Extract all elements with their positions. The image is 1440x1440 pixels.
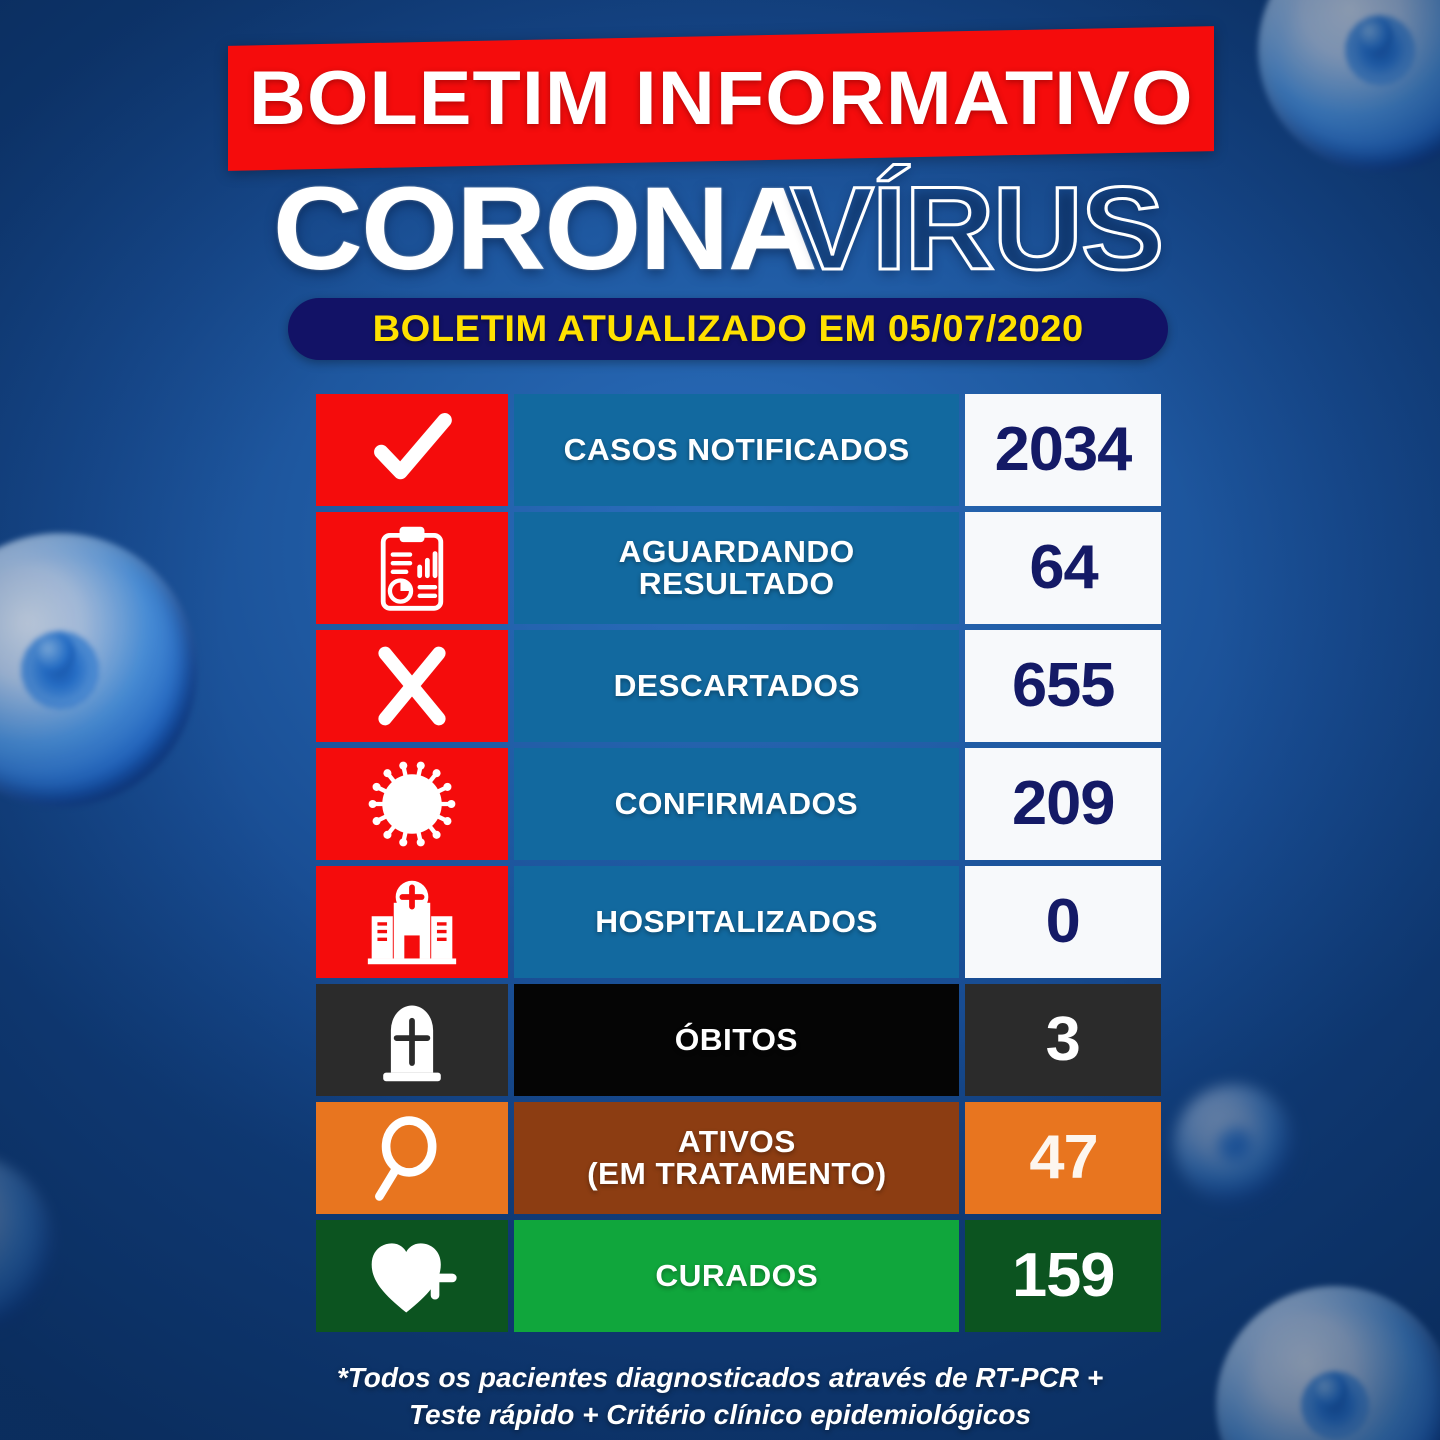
row-value-text: 2034 (995, 419, 1132, 481)
row-icon-cell (316, 630, 508, 742)
row-icon-cell (316, 984, 508, 1096)
row-value-cell: 64 (965, 512, 1161, 624)
row-value-cell: 2034 (965, 394, 1161, 506)
row-label-text: CASOS NOTIFICADOS (563, 434, 909, 466)
row-value-text: 47 (1029, 1127, 1097, 1189)
row-value-cell: 3 (965, 984, 1161, 1096)
row-value-text: 209 (1012, 773, 1114, 835)
virus-icon (364, 756, 460, 852)
table-row: HOSPITALIZADOS0 (316, 866, 1161, 978)
row-label-cell: CONFIRMADOS (514, 748, 959, 860)
footnote: *Todos os pacientes diagnosticados atrav… (0, 1360, 1440, 1434)
row-label-text: CONFIRMADOS (615, 788, 858, 820)
row-label-text: HOSPITALIZADOS (595, 906, 878, 938)
footnote-line-2: Teste rápido + Critério clínico epidemio… (0, 1397, 1440, 1434)
row-label-cell: HOSPITALIZADOS (514, 866, 959, 978)
row-label-text: AGUARDANDORESULTADO (619, 536, 855, 600)
row-value-cell: 209 (965, 748, 1161, 860)
hospital-icon (364, 874, 460, 970)
row-label-cell: CURADOS (514, 1220, 959, 1332)
row-value-cell: 0 (965, 866, 1161, 978)
table-row: CONFIRMADOS209 (316, 748, 1161, 860)
row-value-cell: 47 (965, 1102, 1161, 1214)
row-label-text: ÓBITOS (675, 1024, 798, 1056)
row-label-cell: CASOS NOTIFICADOS (514, 394, 959, 506)
banner-title: BOLETIM INFORMATIVO (228, 26, 1214, 171)
date-badge-text: BOLETIM ATUALIZADO EM 05/07/2020 (372, 308, 1083, 350)
magnifier-icon (364, 1110, 460, 1206)
banner-title-text: BOLETIM INFORMATIVO (249, 55, 1194, 142)
brand-title-outline: VÍRUS (790, 170, 1162, 288)
x-mark-icon (364, 638, 460, 734)
row-value-text: 159 (1012, 1245, 1114, 1307)
row-icon-cell (316, 748, 508, 860)
row-icon-cell (316, 866, 508, 978)
row-value-text: 64 (1029, 537, 1097, 599)
row-label-cell: ATIVOS(EM TRATAMENTO) (514, 1102, 959, 1214)
footnote-line-1: *Todos os pacientes diagnosticados atrav… (0, 1360, 1440, 1397)
tombstone-icon (364, 992, 460, 1088)
row-label-text: ATIVOS(EM TRATAMENTO) (587, 1126, 886, 1190)
row-icon-cell (316, 394, 508, 506)
date-badge: BOLETIM ATUALIZADO EM 05/07/2020 (288, 298, 1168, 360)
table-row: AGUARDANDORESULTADO64 (316, 512, 1161, 624)
row-icon-cell (316, 1220, 508, 1332)
poster-content: BOLETIM INFORMATIVO CORONAVÍRUS BOLETIM … (0, 0, 1440, 1440)
table-row: DESCARTADOS655 (316, 630, 1161, 742)
row-label-text: CURADOS (655, 1260, 818, 1292)
row-icon-cell (316, 512, 508, 624)
brand-title-solid: CORONA (273, 170, 816, 288)
row-label-cell: DESCARTADOS (514, 630, 959, 742)
statistics-table: CASOS NOTIFICADOS2034AGUARDANDORESULTADO… (316, 394, 1161, 1338)
row-label-text: DESCARTADOS (613, 670, 859, 702)
row-value-cell: 655 (965, 630, 1161, 742)
table-row: ÓBITOS3 (316, 984, 1161, 1096)
clipboard-icon (364, 520, 460, 616)
row-value-text: 0 (1046, 891, 1080, 953)
row-label-cell: AGUARDANDORESULTADO (514, 512, 959, 624)
table-row: CASOS NOTIFICADOS2034 (316, 394, 1161, 506)
heart-plus-icon (364, 1228, 460, 1324)
table-row: CURADOS159 (316, 1220, 1161, 1332)
row-value-text: 3 (1046, 1009, 1080, 1071)
brand-title: CORONAVÍRUS (0, 168, 1440, 290)
row-icon-cell (316, 1102, 508, 1214)
table-row: ATIVOS(EM TRATAMENTO)47 (316, 1102, 1161, 1214)
row-value-text: 655 (1012, 655, 1114, 717)
row-label-cell: ÓBITOS (514, 984, 959, 1096)
row-value-cell: 159 (965, 1220, 1161, 1332)
check-icon (364, 402, 460, 498)
